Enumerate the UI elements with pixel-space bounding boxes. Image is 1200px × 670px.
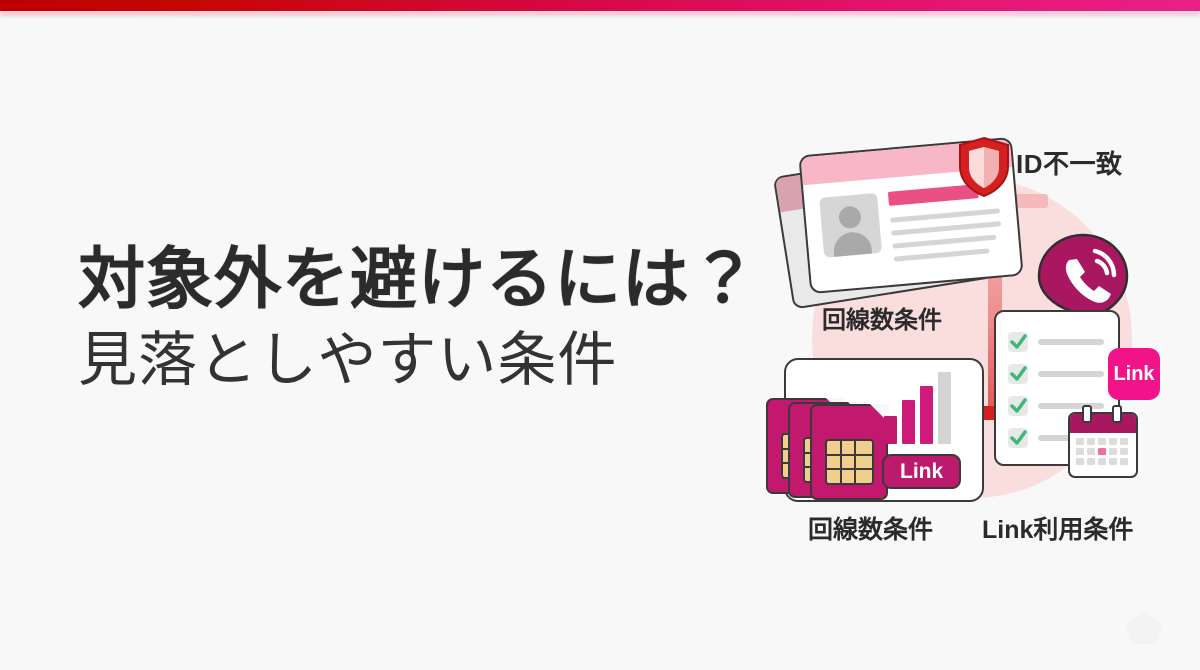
id-card-text-line (894, 248, 990, 261)
checklist-text-bar (1038, 339, 1104, 345)
check-icon (1010, 365, 1027, 383)
calendar-header (1070, 414, 1136, 433)
sim-card (810, 404, 888, 500)
headline-line-2: 見落としやすい条件 (78, 331, 778, 390)
gradient-accent-bar (0, 0, 1200, 11)
avatar (819, 193, 882, 258)
headline-line-1: 対象外を避けるには？ (78, 246, 778, 313)
calendar-ring (1082, 405, 1092, 423)
signal-bar (884, 416, 897, 444)
checklist-text-bar (1038, 403, 1104, 409)
check-icon (1010, 397, 1027, 415)
gradient-accent-bar-glow (0, 11, 1200, 16)
illustration: Link (760, 110, 1200, 560)
calendar-ring (1112, 405, 1122, 423)
checklist-row (1008, 364, 1108, 384)
signal-bar (902, 400, 915, 444)
signal-bar (920, 386, 933, 444)
caption-link-condition: Link利用条件 (982, 510, 1133, 546)
id-card-text-line (891, 221, 1001, 236)
checklist-row (1008, 332, 1108, 352)
avatar-body (832, 231, 872, 258)
link-pill-badge: Link (882, 454, 961, 489)
link-square-badge: Link (1108, 348, 1160, 400)
signal-bar (938, 372, 951, 444)
watermark (1122, 610, 1166, 646)
id-card-text-line (892, 235, 996, 249)
checklist-text-bar (1038, 371, 1104, 377)
caption-id-mismatch: ID不一致 (1016, 144, 1123, 181)
sim-chip (825, 439, 874, 485)
caption-lines-condition-bottom: 回線数条件 (808, 510, 933, 546)
signal-bars-icon (884, 372, 954, 444)
caption-lines-condition-top: 回線数条件 (822, 300, 942, 335)
calendar-grid (1076, 438, 1128, 465)
check-icon (1010, 429, 1027, 447)
check-icon (1010, 333, 1027, 351)
avatar-head (838, 205, 862, 229)
shield-alert-icon (958, 136, 1010, 198)
headline-block: 対象外を避けるには？ 見落としやすい条件 (78, 246, 778, 390)
slide-root: 対象外を避けるには？ 見落としやすい条件 (0, 0, 1200, 670)
calendar-icon (1068, 412, 1138, 478)
sim-card-icon (766, 388, 896, 496)
id-card-text-line (890, 208, 1000, 223)
